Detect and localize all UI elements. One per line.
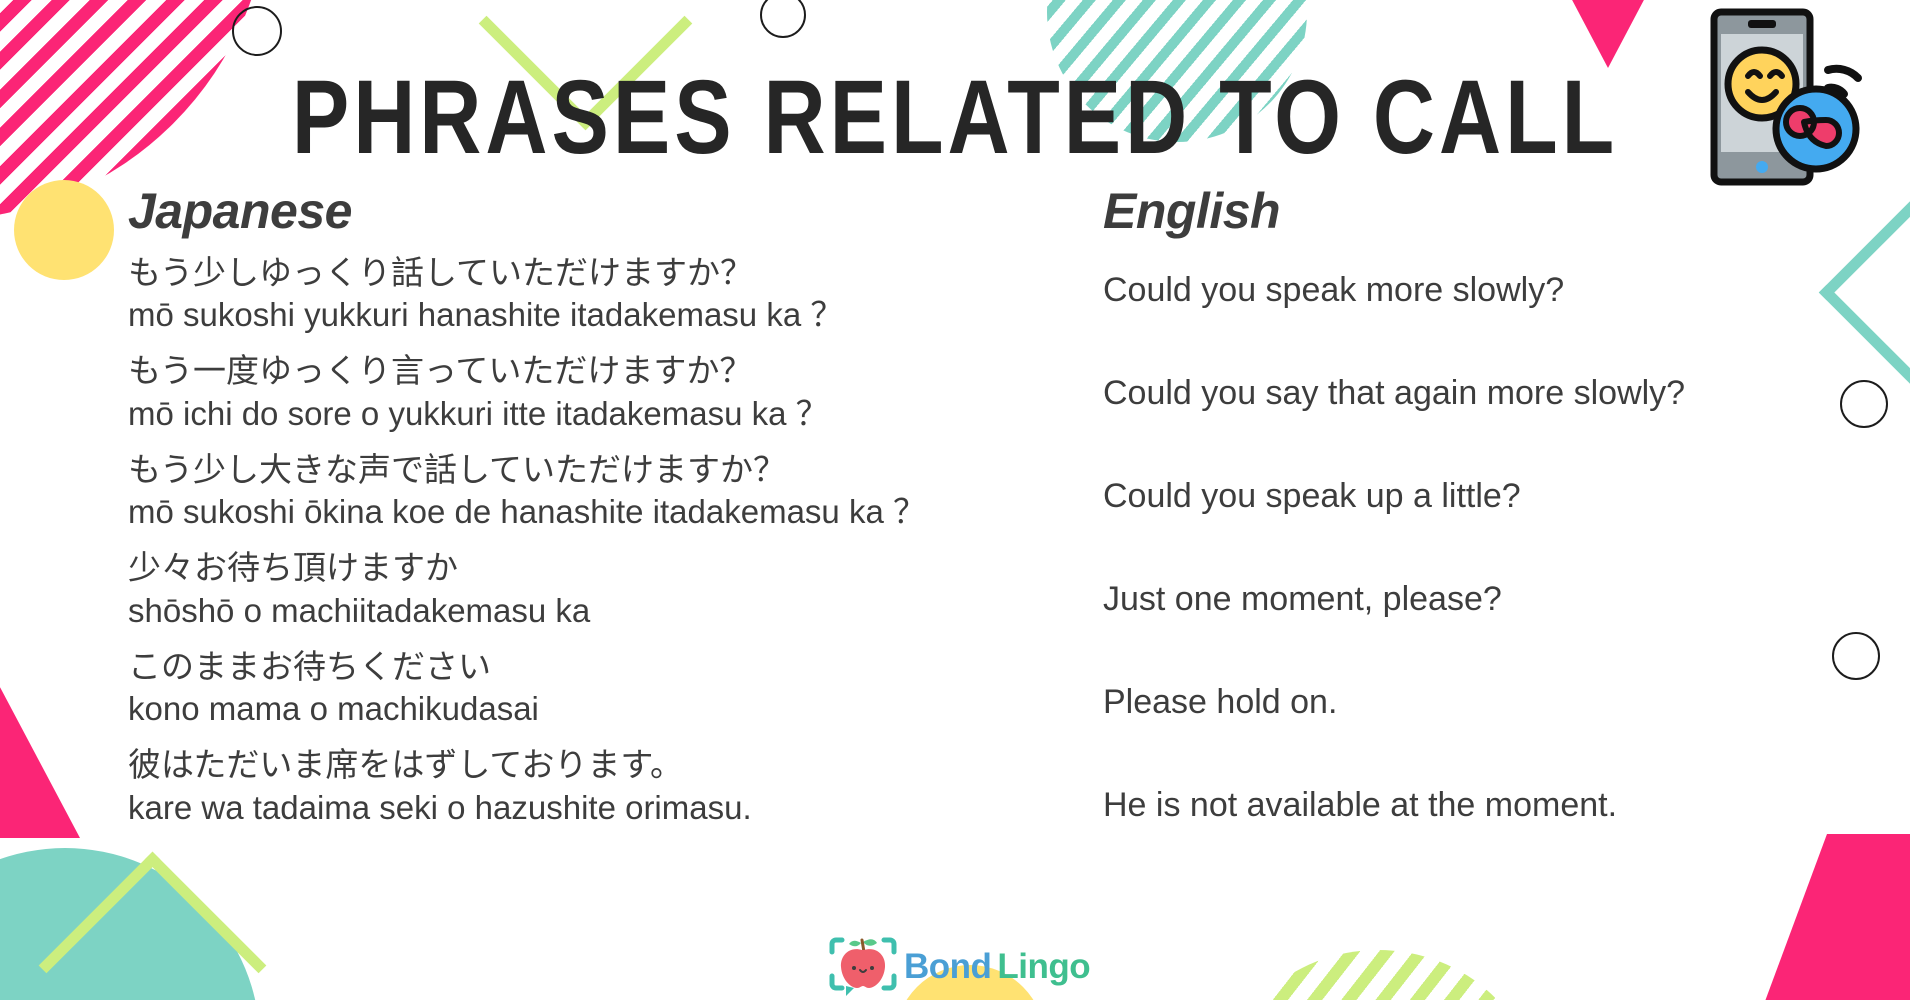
japanese-column-header: Japanese bbox=[128, 182, 352, 240]
japanese-romaji-text: mō sukoshi ōkina koe de hanashite itadak… bbox=[128, 491, 1088, 533]
japanese-phrase-row: もう一度ゆっくり言っていただけますか？ mō ichi do sore o yu… bbox=[128, 350, 1088, 434]
japanese-phrase-row: このままお待ちください kono mama o machikudasai bbox=[128, 646, 1088, 730]
english-phrase-row: Please hold on. bbox=[1103, 684, 1803, 787]
page-title: PHRASES RELATED TO CALL bbox=[0, 58, 1910, 179]
japanese-kana-text: もう一度ゆっくり言っていただけますか？ bbox=[128, 350, 1088, 392]
japanese-phrase-row: もう少しゆっくり話していただけますか？ mō sukoshi yukkuri h… bbox=[128, 252, 1088, 336]
english-column-header: English bbox=[1103, 182, 1280, 240]
yellow-circle-decoration bbox=[14, 180, 114, 280]
japanese-phrase-row: もう少し大きな声で話していただけますか？ mō sukoshi ōkina ko… bbox=[128, 449, 1088, 533]
english-phrase-row: Could you speak up a little? bbox=[1103, 478, 1803, 581]
japanese-romaji-text: kare wa tadaima seki o hazushite orimasu… bbox=[128, 787, 1088, 829]
outline-circle-decoration bbox=[232, 6, 282, 56]
japanese-kana-text: このままお待ちください bbox=[128, 646, 1088, 688]
japanese-kana-text: 彼はただいま席をはずしております。 bbox=[128, 744, 1088, 786]
japanese-kana-text: 少々お待ち頂けますか bbox=[128, 547, 1088, 589]
outline-circle-decoration bbox=[1832, 632, 1880, 680]
japanese-romaji-text: mō sukoshi yukkuri hanashite itadakemasu… bbox=[128, 294, 1088, 336]
outline-circle-decoration bbox=[1840, 380, 1888, 428]
logo-bond-text: Bond bbox=[904, 947, 991, 987]
japanese-kana-text: もう少しゆっくり話していただけますか？ bbox=[128, 252, 1088, 294]
english-phrase-row: He is not available at the moment. bbox=[1103, 787, 1803, 890]
english-phrase-row: Just one moment, please? bbox=[1103, 581, 1803, 684]
bondlingo-logo[interactable]: Bond Lingo bbox=[828, 932, 1090, 1000]
teal-quarter-circle-decoration bbox=[0, 848, 260, 1000]
japanese-phrase-list: もう少しゆっくり話していただけますか？ mō sukoshi yukkuri h… bbox=[128, 252, 1088, 843]
poster-canvas: PHRASES RELATED TO CALL Japanese English… bbox=[0, 0, 1910, 1000]
logo-lingo-text: Lingo bbox=[997, 947, 1090, 987]
japanese-phrase-row: 彼はただいま席をはずしております。 kare wa tadaima seki o… bbox=[128, 744, 1088, 828]
japanese-kana-text: もう少し大きな声で話していただけますか？ bbox=[128, 449, 1088, 491]
english-phrase-row: Could you say that again more slowly? bbox=[1103, 375, 1803, 478]
lime-striped-circle-decoration bbox=[1218, 950, 1538, 1000]
outline-circle-decoration bbox=[188, 950, 236, 998]
english-phrase-list: Could you speak more slowly? Could you s… bbox=[1103, 272, 1803, 890]
outline-circle-decoration bbox=[760, 0, 806, 38]
japanese-romaji-text: shōshō o machiitadakemasu ka bbox=[128, 590, 1088, 632]
japanese-phrase-row: 少々お待ち頂けますか shōshō o machiitadakemasu ka bbox=[128, 547, 1088, 631]
lime-chevron-decoration bbox=[39, 852, 267, 1000]
japanese-romaji-text: mō ichi do sore o yukkuri itte itadakema… bbox=[128, 393, 1088, 435]
japanese-romaji-text: kono mama o machikudasai bbox=[128, 688, 1088, 730]
bondlingo-apple-icon bbox=[828, 932, 898, 1000]
teal-chevron-decoration bbox=[1819, 193, 1910, 392]
english-phrase-row: Could you speak more slowly? bbox=[1103, 272, 1803, 375]
